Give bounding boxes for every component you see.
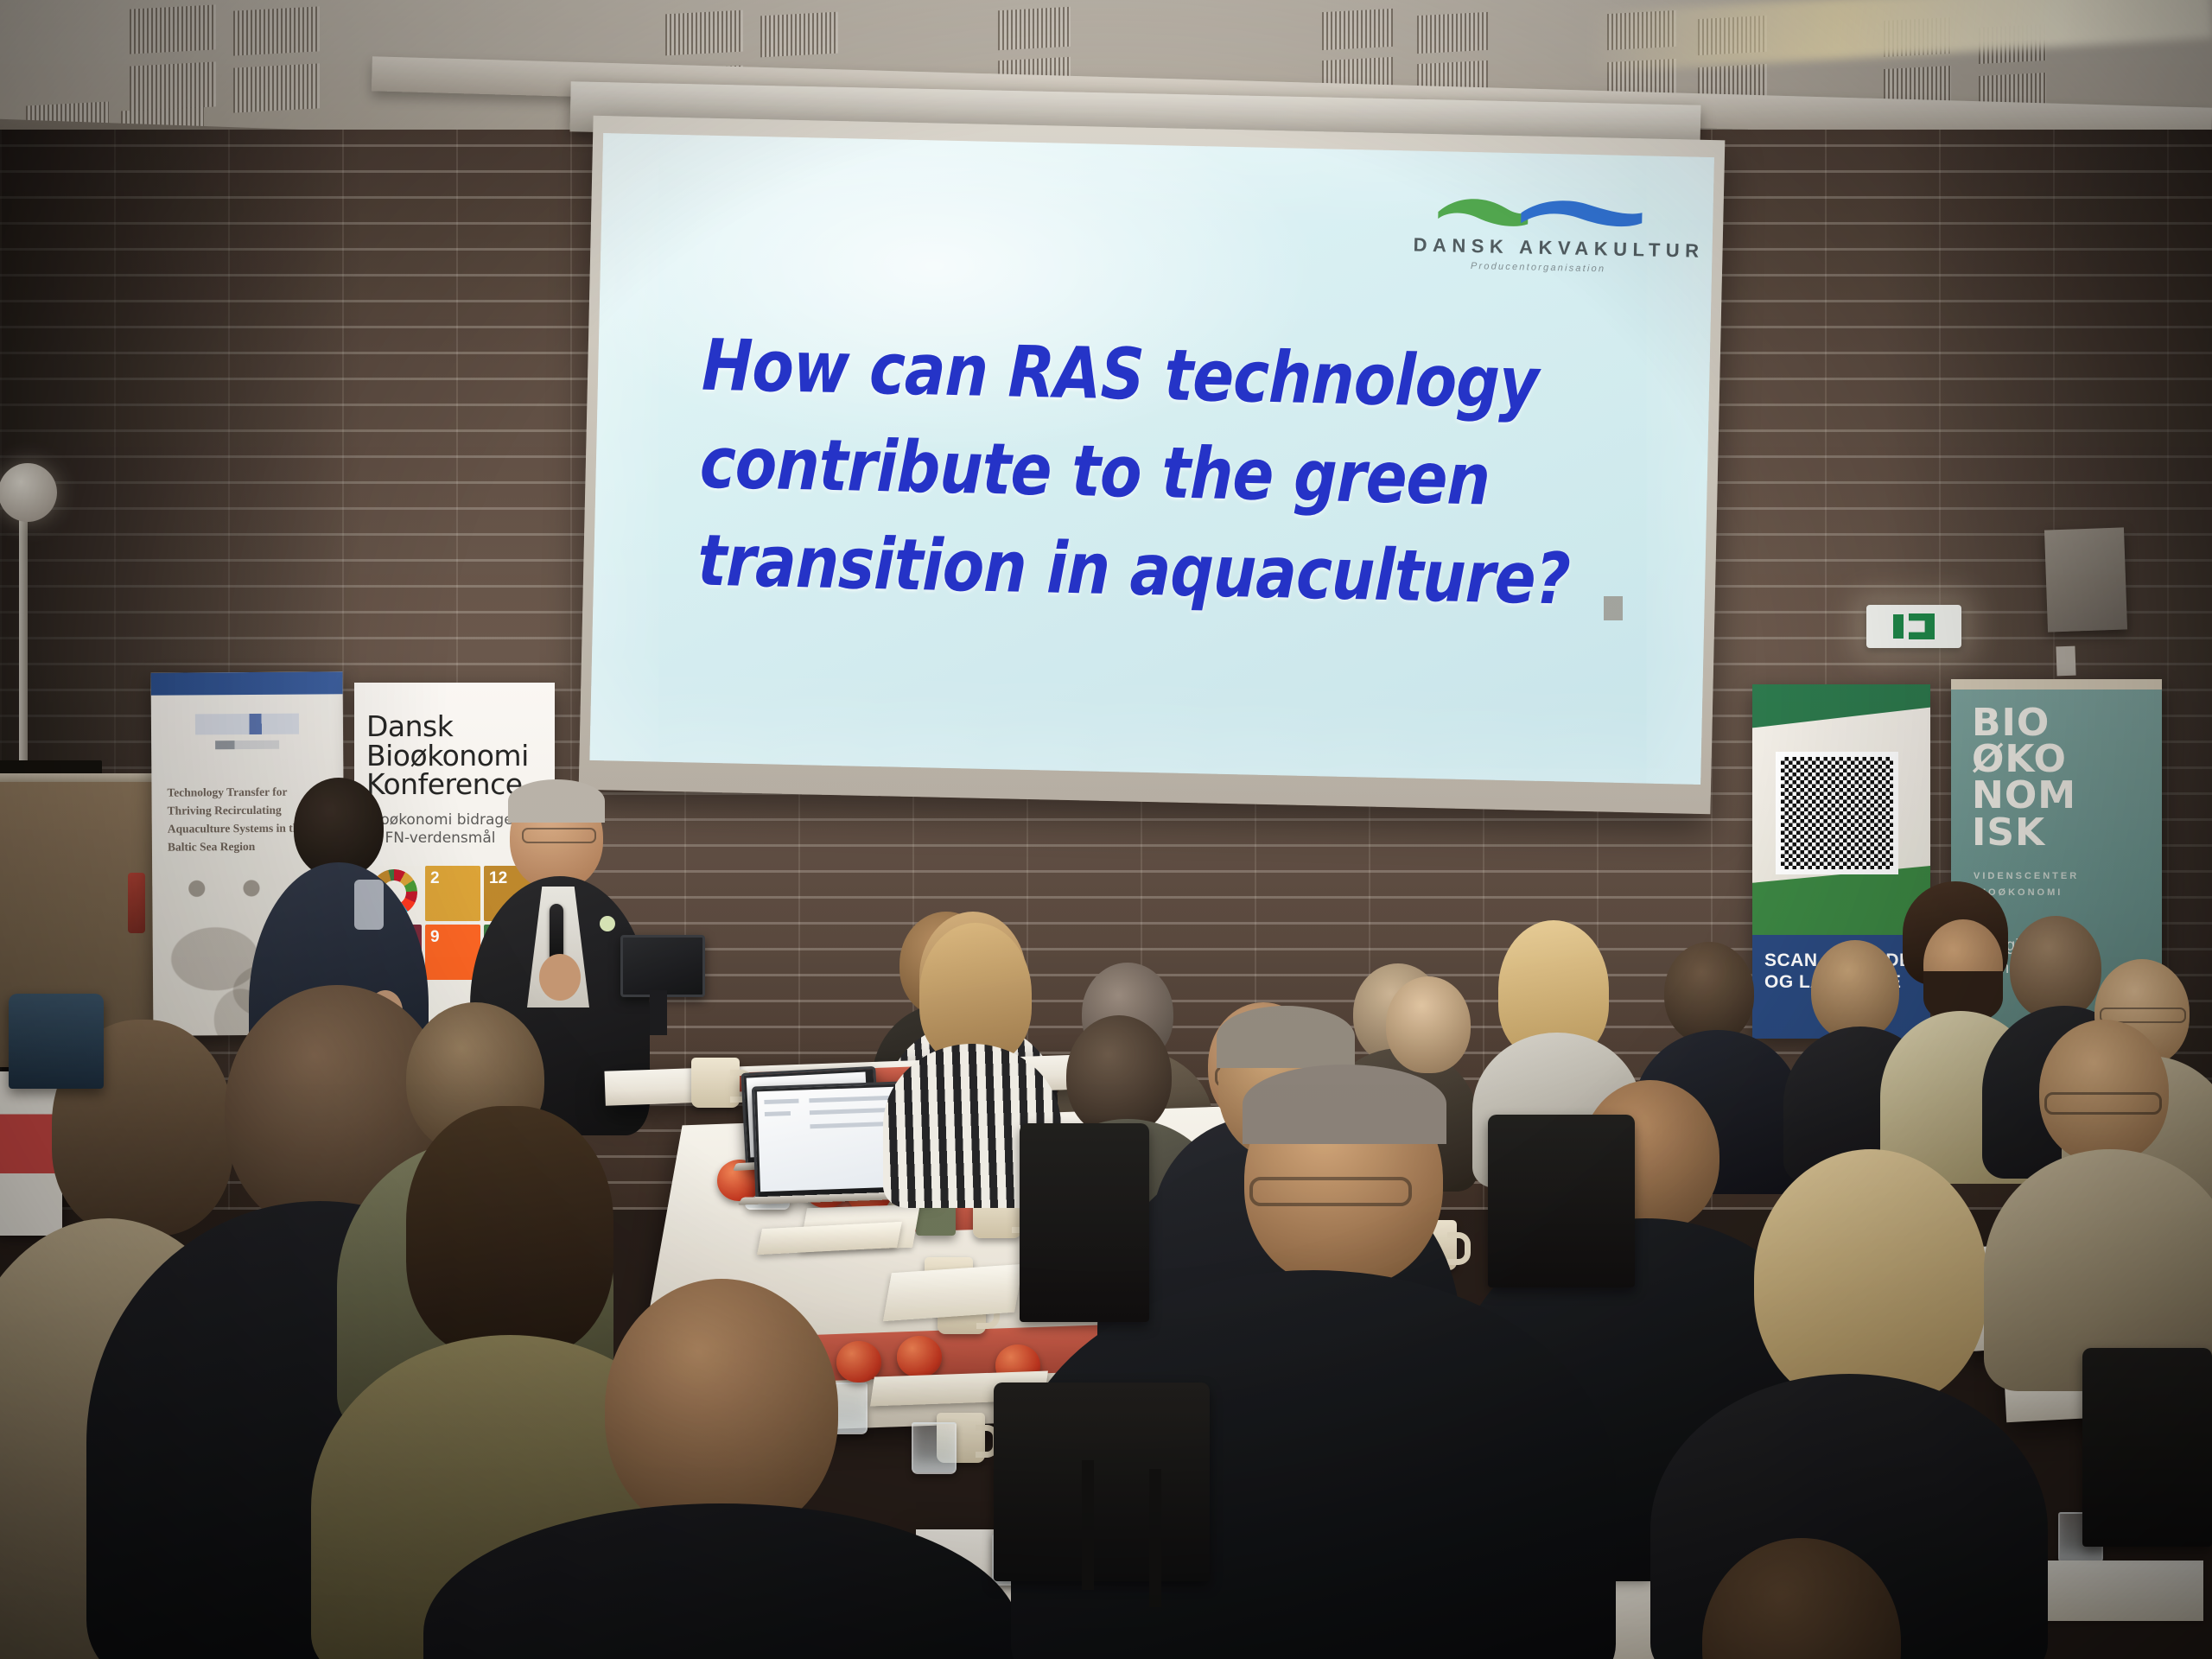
banner-bio-wordmark: BIO ØKO NOM ISK [1972, 705, 2162, 851]
light-switch[interactable] [2056, 646, 2075, 677]
exit-person-icon [1893, 614, 1904, 639]
partner-logo [215, 741, 279, 750]
audience-fg-center-head [605, 1279, 838, 1538]
audience-suit-center-hair [1217, 1006, 1355, 1068]
wall-speaker [2044, 527, 2127, 632]
conference-room-photo: DANSK AKVAKULTUR Producentorganisation H… [0, 0, 2212, 1659]
slide-title: How can RAS technology contribute to the… [696, 317, 1446, 626]
presenter-lapel-pin [600, 916, 615, 931]
wall-outlet [1604, 596, 1623, 620]
chair[interactable] [994, 1382, 1210, 1581]
banner-tetras-topbar [151, 671, 343, 696]
banner-bio-word-2: ØKO [1972, 741, 2162, 778]
chair[interactable] [1488, 1115, 1635, 1287]
dansk-akvakultur-logo: DANSK AKVAKULTUR Producentorganisation [1413, 189, 1665, 276]
logo-company-name: DANSK AKVAKULTUR [1413, 234, 1663, 262]
chair-leg [1082, 1460, 1094, 1590]
wave-icon [1431, 189, 1648, 233]
audience-far-right-1 [2005, 1020, 2212, 1365]
banner-dbk-line2: Bioøkonomi [366, 741, 543, 771]
monitor-on-stand [620, 935, 705, 997]
qr-code-icon [1776, 752, 1898, 874]
chair-leg [1149, 1469, 1161, 1607]
presenter-mic-hand [539, 954, 581, 1001]
slide-title-line-3: transition in aquaculture? [696, 512, 1441, 626]
monitor-stand [650, 990, 667, 1035]
audience-fg-far-right-head [1702, 1538, 1901, 1659]
fire-extinguisher [128, 873, 145, 933]
logo-tagline: Producentorganisation [1413, 260, 1663, 276]
sdg-goal-9-number: 9 [430, 928, 440, 947]
banner-bio-word-1: BIO [1972, 705, 2162, 741]
audience-fg-center-torso [423, 1503, 1020, 1659]
podium-lamp-head [0, 463, 57, 522]
exit-door-icon [1909, 613, 1935, 639]
audience-fg-right-hair [1243, 1065, 1446, 1144]
audience-far-right-1-glasses [2044, 1092, 2162, 1115]
projection-screen: DANSK AKVAKULTUR Producentorganisation H… [579, 116, 1726, 814]
presenter-standing-shirt [354, 880, 384, 930]
chair[interactable] [1020, 1123, 1149, 1322]
eu-flag-logo [195, 714, 299, 735]
audience-fg-right-glasses [1249, 1177, 1412, 1206]
presentation-slide: DANSK AKVAKULTUR Producentorganisation H… [589, 133, 1714, 785]
banner-bio-cap [1951, 679, 2162, 690]
audience-back-5-head [1664, 942, 1754, 1044]
banner-bio-word-4: ISK [1972, 815, 2162, 851]
slide-title-line-1: How can RAS technology [701, 317, 1446, 431]
podium-lamp-stand [19, 517, 28, 785]
audience-blonde-hair [1754, 1149, 1987, 1408]
banner-bio-word-3: NOM [1972, 778, 2162, 814]
sdg-goal-2-number: 2 [430, 869, 440, 888]
slide-title-line-2: contribute to the green [699, 415, 1444, 529]
poster-green-top [1752, 684, 1930, 745]
audience-fg-center-man [458, 1279, 976, 1659]
emergency-exit-sign [1866, 605, 1961, 648]
chair[interactable] [2082, 1348, 2212, 1547]
coffee-mug[interactable] [691, 1058, 740, 1108]
audience-fg-far-right [1573, 1538, 2022, 1659]
presenter-mic-glasses [522, 828, 596, 843]
sdg-goal-9: 9 [425, 925, 480, 980]
chair-blue[interactable] [9, 994, 104, 1089]
presenter-mic-hair [508, 779, 605, 823]
banner-dbk-line1: Dansk [366, 712, 543, 741]
sdg-goal-2: 2 [425, 866, 480, 921]
audience-far-right-1-head [2039, 1020, 2169, 1163]
